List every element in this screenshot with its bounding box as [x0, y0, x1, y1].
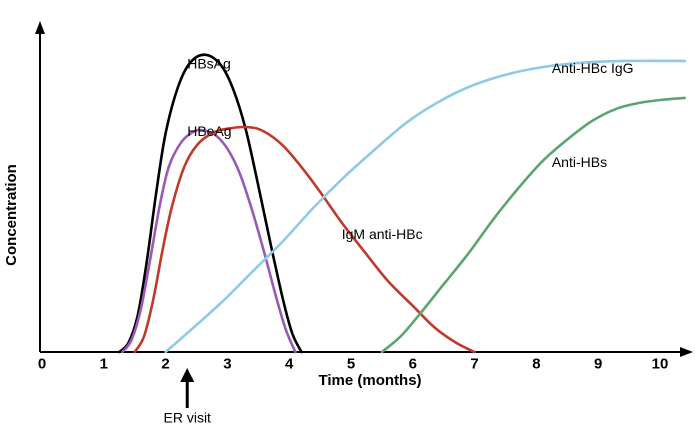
y-axis-title: Concentration	[3, 164, 20, 266]
series-curve	[135, 127, 475, 352]
x-axis-title: Time (months)	[318, 372, 421, 389]
series-label: IgM anti-HBc	[342, 226, 423, 242]
x-tick-labels: 012345678910	[38, 355, 669, 372]
x-tick-label: 9	[594, 355, 602, 372]
series-curves	[119, 55, 684, 352]
x-tick-label: 5	[347, 355, 355, 372]
series-label: HBeAg	[187, 123, 231, 139]
series-label: Anti-HBc IgG	[552, 60, 634, 76]
series-curve	[119, 55, 301, 352]
x-tick-label: 6	[409, 355, 417, 372]
x-tick-label: 2	[161, 355, 169, 372]
x-tick-label: 10	[652, 355, 669, 372]
x-tick-label: 0	[38, 355, 46, 372]
x-tick-label: 1	[100, 355, 108, 372]
chart-annotations: ER visit	[164, 368, 212, 425]
series-label: Anti-HBs	[552, 154, 607, 170]
x-tick-label: 8	[532, 355, 540, 372]
er-visit-label: ER visit	[164, 409, 212, 425]
x-tick-label: 3	[223, 355, 231, 372]
chart-canvas: 012345678910 Time (months) Concentration…	[0, 0, 700, 436]
series-curve	[382, 98, 685, 352]
series-label: HBsAg	[187, 55, 231, 71]
hepatitis-b-serology-chart: 012345678910 Time (months) Concentration…	[0, 0, 700, 436]
x-tick-label: 4	[285, 355, 294, 372]
y-axis	[35, 21, 45, 352]
er-visit-arrow-head	[180, 368, 194, 382]
x-tick-label: 7	[470, 355, 478, 372]
